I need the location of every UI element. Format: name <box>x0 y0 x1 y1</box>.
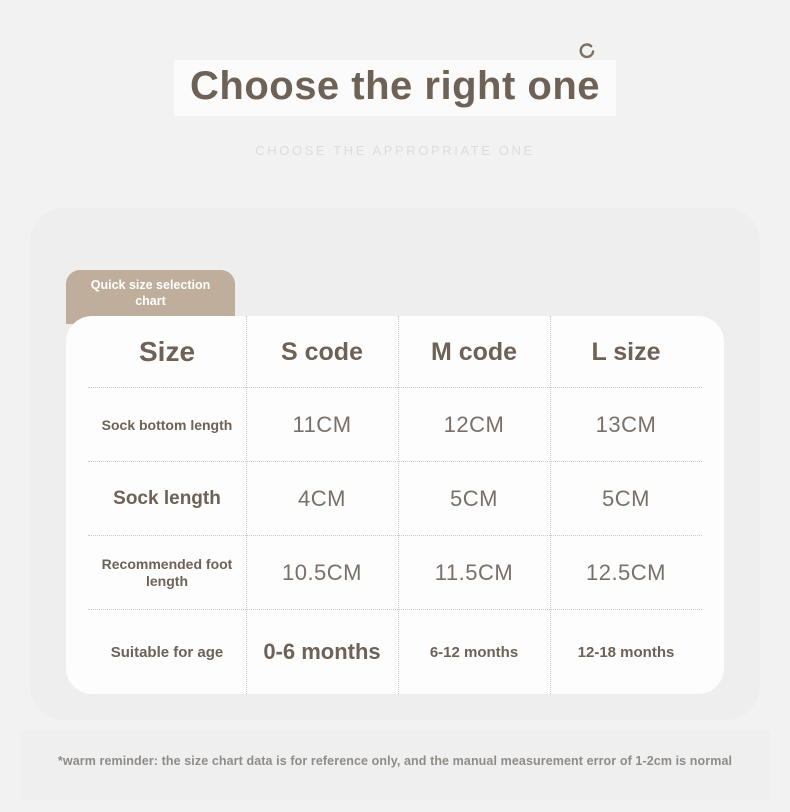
table-header-label: M code <box>431 338 517 367</box>
table-cell-m: 11.5CM <box>398 536 550 610</box>
page-header: Choose the right one CHOOSE THE APPROPRI… <box>0 0 790 190</box>
table-cell-value: 10.5CM <box>282 560 362 586</box>
table-cell-s: 0-6 months <box>246 610 398 694</box>
table-cell-value: 0-6 months <box>263 639 380 665</box>
table-cell-m: 5CM <box>398 462 550 536</box>
table-row: Recommended foot length 10.5CM 11.5CM 12… <box>88 536 702 610</box>
table-row-label-cell: Sock bottom length <box>88 388 246 462</box>
table-header-row: Size S code M code L size <box>88 316 702 388</box>
table-row-label: Sock bottom length <box>102 417 233 434</box>
size-chart-tab-label: Quick size selection chart <box>76 278 225 309</box>
table-cell-value: 5CM <box>450 486 498 512</box>
table-header-cell-size: Size <box>88 316 246 388</box>
table-cell-s: 4CM <box>246 462 398 536</box>
table-header-label: L size <box>591 338 660 367</box>
size-table: Size S code M code L size Sock bottom le… <box>88 316 702 694</box>
table-cell-value: 12-18 months <box>578 644 675 661</box>
table-header-cell-s: S code <box>246 316 398 388</box>
table-header-cell-m: M code <box>398 316 550 388</box>
table-row-label-cell: Sock length <box>88 462 246 536</box>
table-cell-value: 12.5CM <box>586 560 666 586</box>
ring-icon <box>578 42 597 61</box>
page-subtitle: CHOOSE THE APPROPRIATE ONE <box>0 143 790 158</box>
table-cell-l: 12-18 months <box>550 610 702 694</box>
size-chart-card: Size S code M code L size Sock bottom le… <box>66 316 724 694</box>
footer-band: *warm reminder: the size chart data is f… <box>20 730 770 800</box>
footer-note: *warm reminder: the size chart data is f… <box>20 754 770 768</box>
table-row: Sock length 4CM 5CM 5CM <box>88 462 702 536</box>
table-cell-value: 11CM <box>292 412 351 438</box>
table-row: Suitable for age 0-6 months 6-12 months … <box>88 610 702 694</box>
table-cell-value: 11.5CM <box>435 560 513 586</box>
table-cell-l: 5CM <box>550 462 702 536</box>
table-cell-value: 5CM <box>602 486 650 512</box>
table-cell-s: 10.5CM <box>246 536 398 610</box>
table-row-label: Recommended foot length <box>94 556 240 590</box>
table-header-cell-l: L size <box>550 316 702 388</box>
table-cell-m: 12CM <box>398 388 550 462</box>
table-cell-value: 13CM <box>596 412 657 438</box>
table-row: Sock bottom length 11CM 12CM 13CM <box>88 388 702 462</box>
table-cell-value: 4CM <box>298 486 346 512</box>
page-title: Choose the right one <box>174 60 616 116</box>
page-title-wrap: Choose the right one <box>0 60 790 116</box>
table-cell-m: 6-12 months <box>398 610 550 694</box>
table-header-label: S code <box>281 338 363 367</box>
table-cell-s: 11CM <box>246 388 398 462</box>
table-cell-value: 12CM <box>444 412 505 438</box>
table-row-label: Sock length <box>113 488 221 510</box>
table-cell-l: 12.5CM <box>550 536 702 610</box>
table-row-label-cell: Recommended foot length <box>88 536 246 610</box>
table-header-label: Size <box>139 336 195 368</box>
table-cell-value: 6-12 months <box>430 644 518 661</box>
table-row-label-cell: Suitable for age <box>88 610 246 694</box>
table-row-label: Suitable for age <box>111 644 224 661</box>
table-cell-l: 13CM <box>550 388 702 462</box>
